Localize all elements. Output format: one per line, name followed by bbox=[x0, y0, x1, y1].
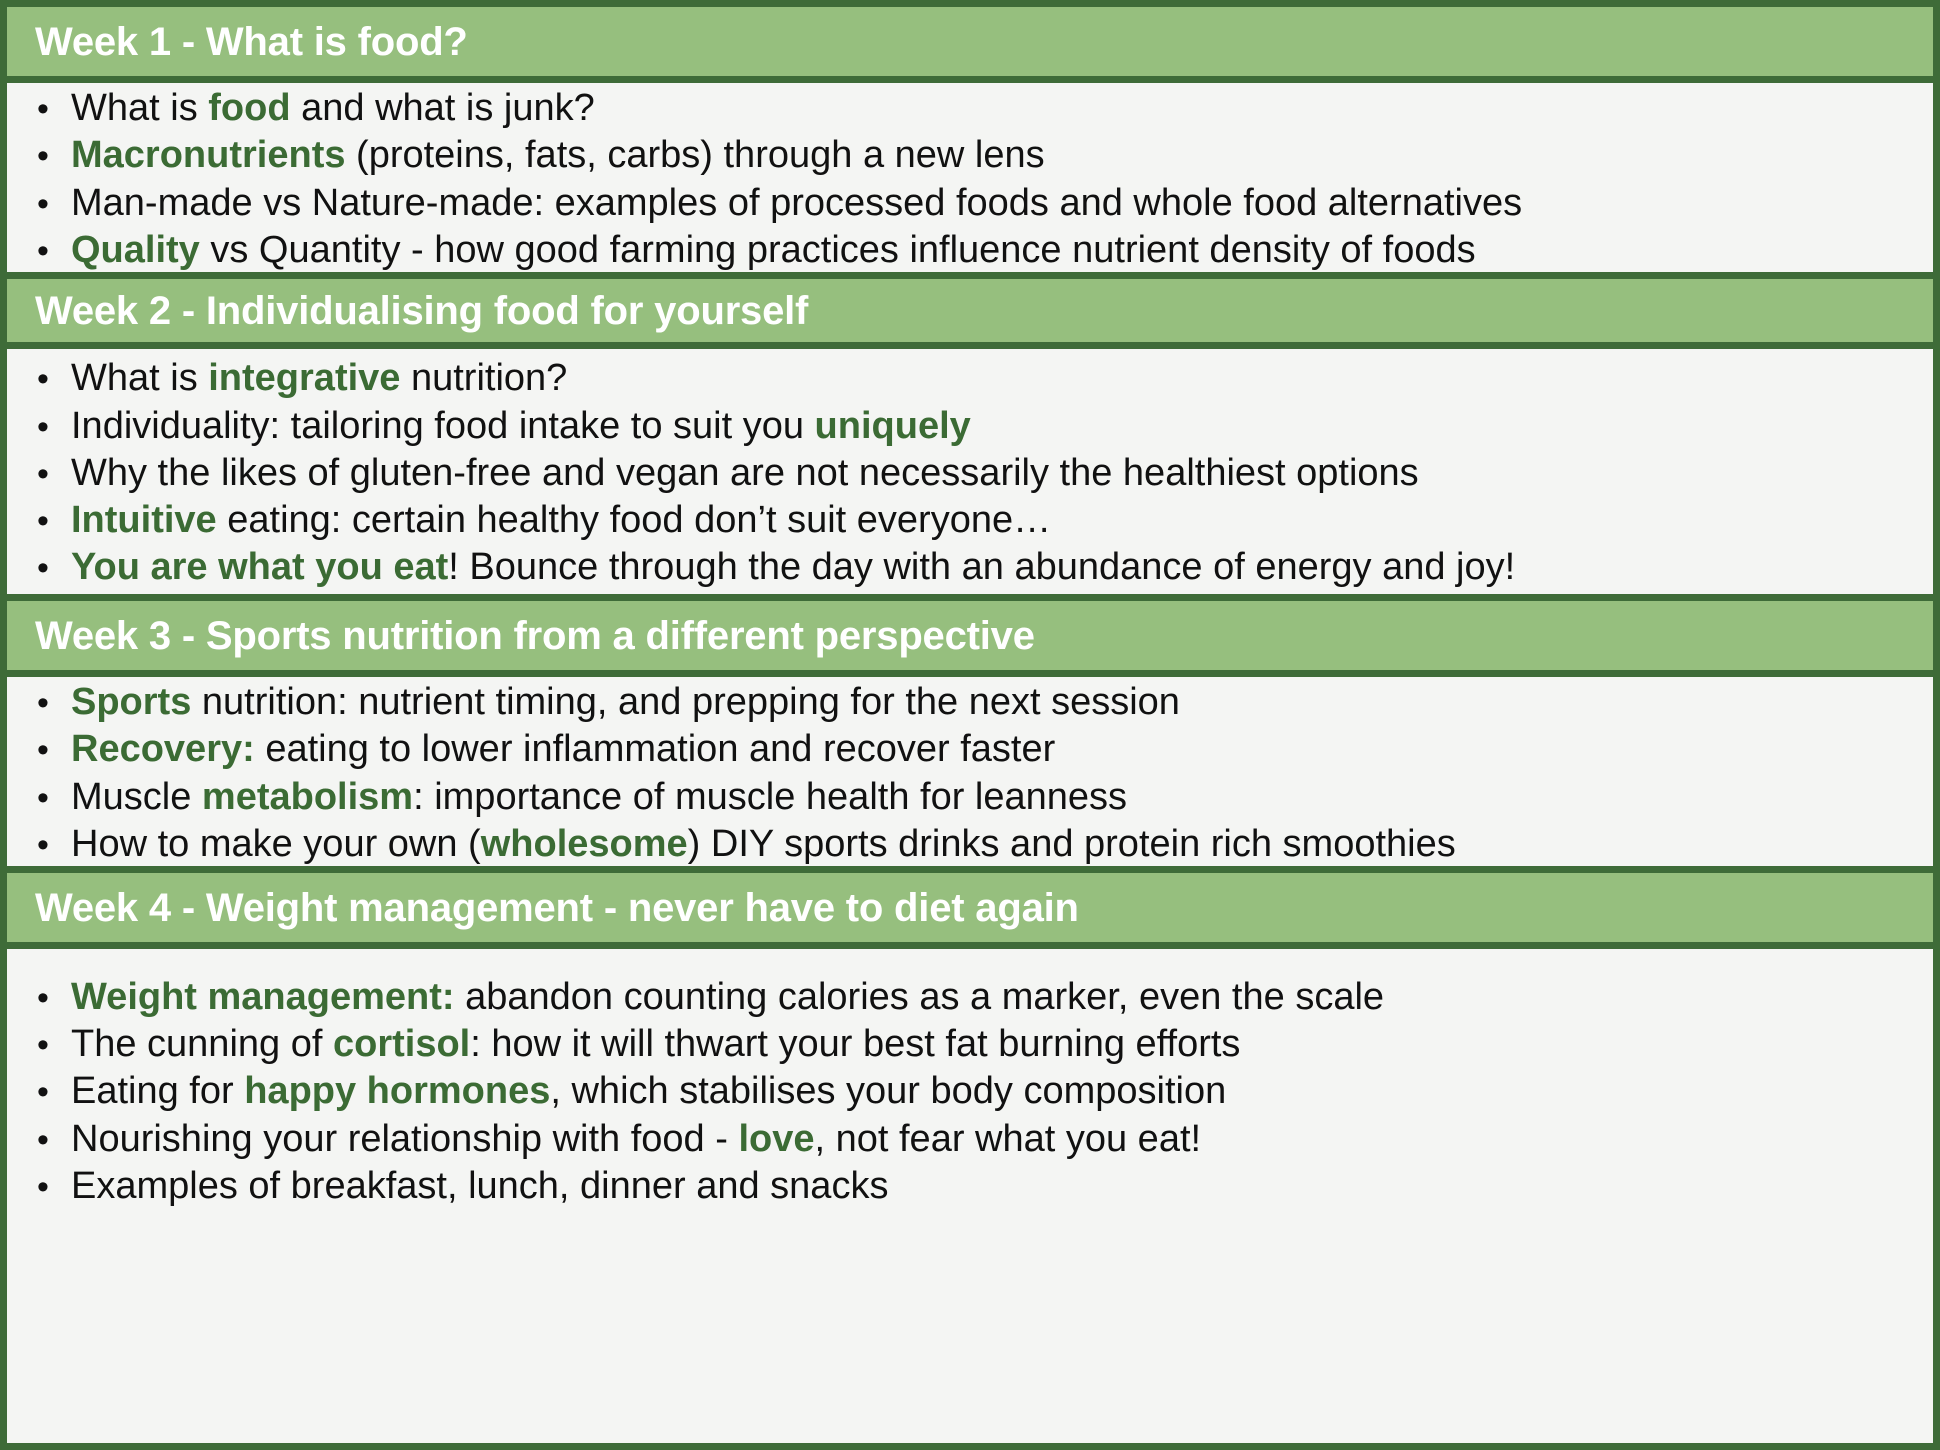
bullet-row: •Nourishing your relationship with food … bbox=[31, 1116, 1909, 1163]
bullet-row: •What is food and what is junk? bbox=[31, 85, 1909, 132]
bullet-text: Nourishing your relationship with food -… bbox=[71, 1117, 1909, 1162]
week-header-3: Week 3 - Sports nutrition from a differe… bbox=[7, 601, 1933, 677]
bullet-point-icon: • bbox=[31, 359, 71, 399]
plain-text: : how it will thwart your best fat burni… bbox=[470, 1023, 1240, 1065]
highlighted-term: cortisol bbox=[333, 1023, 470, 1065]
plain-text: vs Quantity - how good farming practices… bbox=[200, 229, 1476, 271]
plain-text: (proteins, fats, carbs) through a new le… bbox=[345, 134, 1044, 176]
week-block-3: Week 3 - Sports nutrition from a differe… bbox=[7, 601, 1933, 873]
bullet-point-icon: • bbox=[31, 730, 71, 770]
bullet-text: How to make your own (wholesome) DIY spo… bbox=[71, 822, 1909, 867]
week-header-1: Week 1 - What is food? bbox=[7, 7, 1933, 83]
bullet-row: •Weight management: abandon counting cal… bbox=[31, 974, 1909, 1021]
plain-text: eating: certain healthy food don’t suit … bbox=[217, 499, 1051, 541]
bullet-text: What is integrative nutrition? bbox=[71, 356, 1909, 401]
plain-text: Man-made vs Nature-made: examples of pro… bbox=[71, 182, 1522, 224]
bullet-row: •Man-made vs Nature-made: examples of pr… bbox=[31, 180, 1909, 227]
week-header-title: Week 4 - Weight management - never have … bbox=[35, 887, 1079, 929]
plain-text: The cunning of bbox=[71, 1023, 333, 1065]
bullet-text: Weight management: abandon counting calo… bbox=[71, 975, 1909, 1020]
bullet-text: The cunning of cortisol: how it will thw… bbox=[71, 1022, 1909, 1067]
plain-text: What is bbox=[71, 357, 208, 399]
plain-text: Examples of breakfast, lunch, dinner and… bbox=[71, 1165, 888, 1207]
week-block-2: Week 2 - Individualising food for yourse… bbox=[7, 279, 1933, 601]
plain-text: ! Bounce through the day with an abundan… bbox=[448, 546, 1515, 588]
bullet-point-icon: • bbox=[31, 548, 71, 588]
bullet-row: •Muscle metabolism: importance of muscle… bbox=[31, 774, 1909, 821]
plain-text: abandon counting calories as a marker, e… bbox=[455, 976, 1384, 1018]
bullet-point-icon: • bbox=[31, 231, 71, 271]
bullet-row: •Individuality: tailoring food intake to… bbox=[31, 403, 1909, 450]
bullet-text: Why the likes of gluten-free and vegan a… bbox=[71, 451, 1909, 496]
bullet-point-icon: • bbox=[31, 1025, 71, 1065]
week-block-1: Week 1 - What is food? •What is food and… bbox=[7, 7, 1933, 279]
highlighted-term: uniquely bbox=[815, 405, 971, 447]
plain-text: : importance of muscle health for leanne… bbox=[413, 776, 1127, 818]
bullet-text: Eating for happy hormones, which stabili… bbox=[71, 1069, 1909, 1114]
bullet-row: •Sports nutrition: nutrient timing, and … bbox=[31, 679, 1909, 726]
bullet-text: Recovery: eating to lower inflammation a… bbox=[71, 727, 1909, 772]
highlighted-term: wholesome bbox=[481, 823, 688, 865]
bullet-text: Intuitive eating: certain healthy food d… bbox=[71, 498, 1909, 543]
week-block-4: Week 4 - Weight management - never have … bbox=[7, 873, 1933, 1231]
bullet-text: Individuality: tailoring food intake to … bbox=[71, 404, 1909, 449]
plain-text: eating to lower inflammation and recover… bbox=[255, 728, 1056, 770]
curriculum-table: Week 1 - What is food? •What is food and… bbox=[0, 0, 1940, 1450]
highlighted-term: You are what you eat bbox=[71, 546, 448, 588]
bullet-row: •The cunning of cortisol: how it will th… bbox=[31, 1021, 1909, 1068]
bullet-text: Muscle metabolism: importance of muscle … bbox=[71, 775, 1909, 820]
bullet-row: •Quality vs Quantity - how good farming … bbox=[31, 227, 1909, 274]
plain-text: nutrition? bbox=[400, 357, 567, 399]
highlighted-term: Weight management: bbox=[71, 976, 455, 1018]
week-header-title: Week 2 - Individualising food for yourse… bbox=[35, 290, 808, 332]
bullet-point-icon: • bbox=[31, 184, 71, 224]
bullet-row: •Eating for happy hormones, which stabil… bbox=[31, 1068, 1909, 1115]
plain-text: Eating for bbox=[71, 1070, 244, 1112]
week-body-3: •Sports nutrition: nutrient timing, and … bbox=[7, 677, 1933, 873]
bullet-row: •Examples of breakfast, lunch, dinner an… bbox=[31, 1163, 1909, 1210]
week-header-4: Week 4 - Weight management - never have … bbox=[7, 873, 1933, 949]
bullet-point-icon: • bbox=[31, 778, 71, 818]
plain-text: Nourishing your relationship with food - bbox=[71, 1118, 738, 1160]
plain-text: ) DIY sports drinks and protein rich smo… bbox=[688, 823, 1456, 865]
bullet-point-icon: • bbox=[31, 407, 71, 447]
plain-text: , not fear what you eat! bbox=[815, 1118, 1202, 1160]
highlighted-term: Macronutrients bbox=[71, 134, 345, 176]
bullet-text: Man-made vs Nature-made: examples of pro… bbox=[71, 181, 1909, 226]
plain-text: Individuality: tailoring food intake to … bbox=[71, 405, 815, 447]
bullet-row: •Why the likes of gluten-free and vegan … bbox=[31, 450, 1909, 497]
week-body-1: •What is food and what is junk?•Macronut… bbox=[7, 83, 1933, 279]
plain-text: Muscle bbox=[71, 776, 202, 818]
bullet-point-icon: • bbox=[31, 1167, 71, 1207]
highlighted-term: food bbox=[208, 87, 290, 129]
plain-text: What is bbox=[71, 87, 208, 129]
bullet-text: Macronutrients (proteins, fats, carbs) t… bbox=[71, 133, 1909, 178]
bullet-text: You are what you eat! Bounce through the… bbox=[71, 545, 1909, 590]
week-header-title: Week 3 - Sports nutrition from a differe… bbox=[35, 615, 1035, 657]
bullet-row: •Macronutrients (proteins, fats, carbs) … bbox=[31, 132, 1909, 179]
week-body-2: •What is integrative nutrition?•Individu… bbox=[7, 349, 1933, 601]
bullet-text: Sports nutrition: nutrient timing, and p… bbox=[71, 680, 1909, 725]
bullet-point-icon: • bbox=[31, 683, 71, 723]
bullet-point-icon: • bbox=[31, 136, 71, 176]
bullet-text: Quality vs Quantity - how good farming p… bbox=[71, 228, 1909, 273]
highlighted-term: metabolism bbox=[202, 776, 413, 818]
bullet-row: •Intuitive eating: certain healthy food … bbox=[31, 497, 1909, 544]
bullet-point-icon: • bbox=[31, 89, 71, 129]
week-header-title: Week 1 - What is food? bbox=[35, 21, 468, 63]
highlighted-term: integrative bbox=[208, 357, 400, 399]
highlighted-term: Intuitive bbox=[71, 499, 217, 541]
plain-text: Why the likes of gluten-free and vegan a… bbox=[71, 452, 1419, 494]
bullet-point-icon: • bbox=[31, 454, 71, 494]
bullet-point-icon: • bbox=[31, 1120, 71, 1160]
highlighted-term: Recovery: bbox=[71, 728, 255, 770]
bullet-row: •You are what you eat! Bounce through th… bbox=[31, 544, 1909, 591]
bullet-point-icon: • bbox=[31, 1072, 71, 1112]
highlighted-term: happy hormones bbox=[244, 1070, 550, 1112]
bullet-text: What is food and what is junk? bbox=[71, 86, 1909, 131]
highlighted-term: Quality bbox=[71, 229, 200, 271]
bullet-point-icon: • bbox=[31, 825, 71, 865]
bullet-point-icon: • bbox=[31, 501, 71, 541]
bullet-text: Examples of breakfast, lunch, dinner and… bbox=[71, 1164, 1909, 1209]
bullet-row: •Recovery: eating to lower inflammation … bbox=[31, 726, 1909, 773]
week-body-4: •Weight management: abandon counting cal… bbox=[7, 949, 1933, 1231]
highlighted-term: love bbox=[738, 1118, 814, 1160]
plain-text: nutrition: nutrient timing, and prepping… bbox=[191, 681, 1180, 723]
plain-text: How to make your own ( bbox=[71, 823, 481, 865]
plain-text: , which stabilises your body composition bbox=[550, 1070, 1226, 1112]
week-header-2: Week 2 - Individualising food for yourse… bbox=[7, 279, 1933, 349]
bullet-point-icon: • bbox=[31, 978, 71, 1018]
bullet-row: •How to make your own (wholesome) DIY sp… bbox=[31, 821, 1909, 868]
highlighted-term: Sports bbox=[71, 681, 191, 723]
bullet-row: •What is integrative nutrition? bbox=[31, 355, 1909, 402]
plain-text: and what is junk? bbox=[291, 87, 595, 129]
